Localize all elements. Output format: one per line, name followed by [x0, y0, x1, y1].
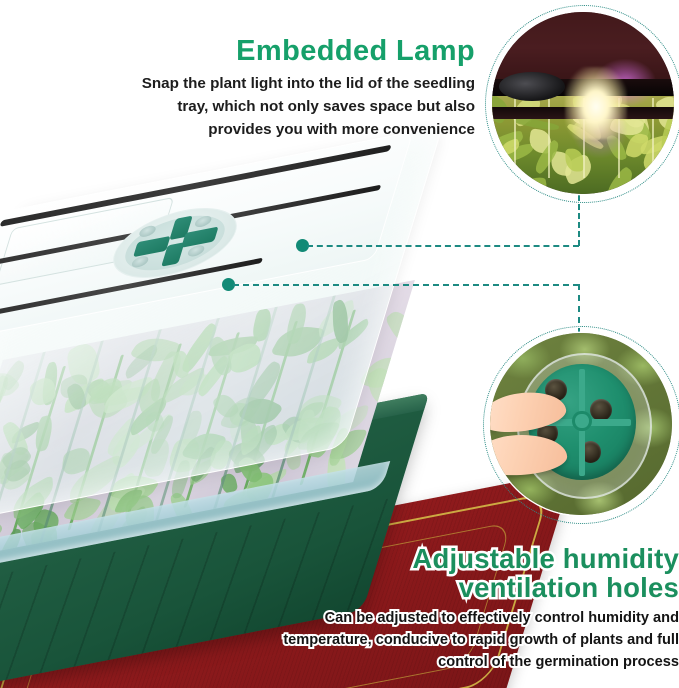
- callout-bottom-body: Can be adjusted to effectively control h…: [250, 608, 679, 674]
- callout-bottom-photo: [490, 333, 672, 515]
- infographic-canvas: B: [0, 0, 679, 688]
- vent-photo-spoke-top: [579, 369, 585, 413]
- ventilation-dial-photo: [490, 333, 672, 515]
- lamp-photo-leaf: [602, 165, 638, 194]
- connector-vent-horizontal: [233, 284, 579, 286]
- callout-bottom-headline-line1: Adjustable humidity: [345, 544, 679, 573]
- callout-top-photo: [492, 12, 674, 194]
- connector-lamp-horizontal: [307, 245, 579, 247]
- embedded-lamp-photo: [492, 12, 674, 194]
- lamp-bright-glow: [565, 67, 627, 140]
- vent-photo-hub: [572, 411, 591, 432]
- vent-photo-spoke-right: [588, 419, 631, 426]
- vent-photo-hole-2: [590, 399, 611, 421]
- callout-top-body: Snap the plant light into the lid of the…: [110, 72, 475, 141]
- vent-photo-spoke-bottom: [579, 429, 585, 476]
- seedling-leaf: [385, 305, 415, 349]
- lamp-dark-knob: [499, 72, 565, 101]
- callout-bottom-headline-line2: ventilation holes: [345, 573, 679, 602]
- callout-top-headline: Embedded Lamp: [150, 36, 475, 66]
- callout-bottom-headline: Adjustable humidity ventilation holes: [345, 544, 679, 602]
